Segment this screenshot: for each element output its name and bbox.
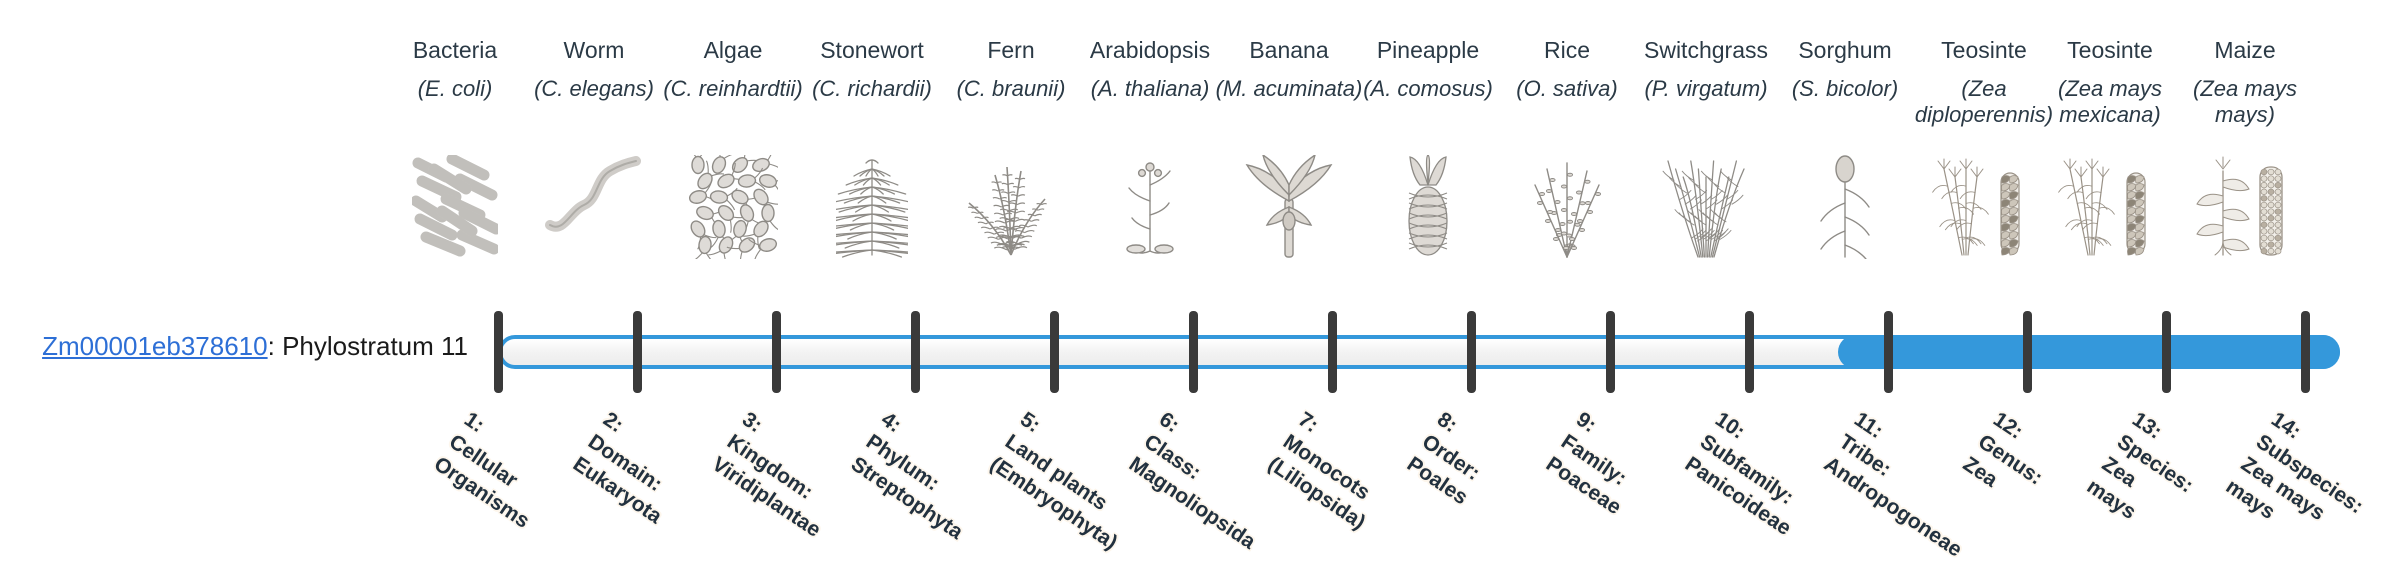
- rank-tick-4: [911, 311, 920, 393]
- phylostratum-figure: Bacteria(E. coli)Worm(C. elegans)Algae(C…: [0, 0, 2400, 580]
- rank-tick-3: [772, 311, 781, 393]
- rank-tick-2: [633, 311, 642, 393]
- rank-tick-14: [2301, 311, 2310, 393]
- rank-tick-13: [2162, 311, 2171, 393]
- rank-tick-6: [1189, 311, 1198, 393]
- rank-tick-7: [1328, 311, 1337, 393]
- rank-tick-9: [1606, 311, 1615, 393]
- rank-tick-1: [494, 311, 503, 393]
- rank-tick-11: [1884, 311, 1893, 393]
- rank-tick-5: [1050, 311, 1059, 393]
- rank-tick-10: [1745, 311, 1754, 393]
- phylostratum-track-fill: [1838, 335, 2340, 369]
- rank-tick-8: [1467, 311, 1476, 393]
- rank-tick-12: [2023, 311, 2032, 393]
